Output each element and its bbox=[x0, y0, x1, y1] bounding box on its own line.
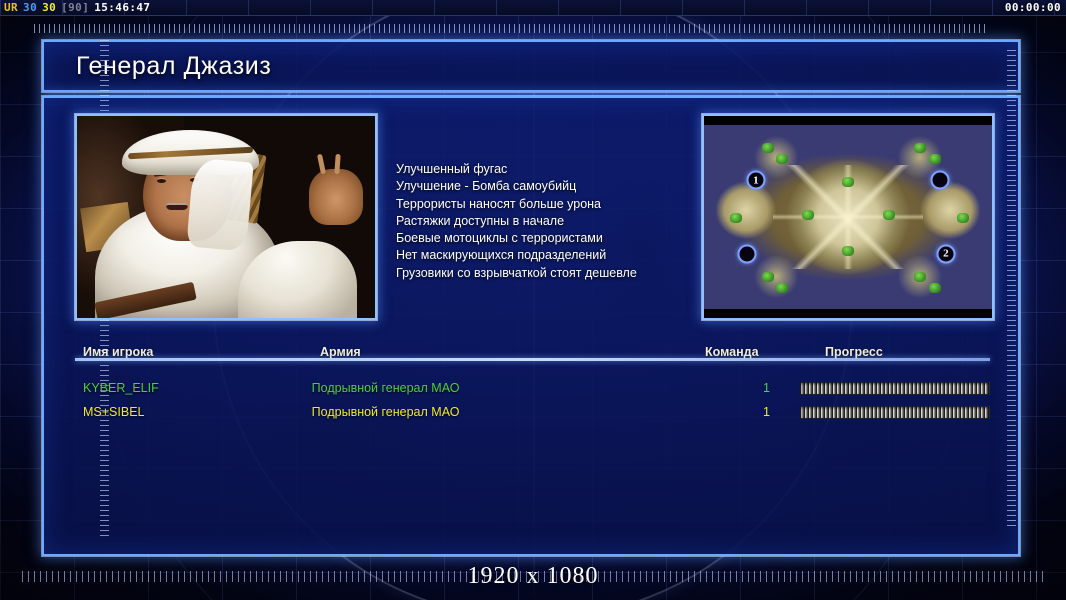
minimap-tree bbox=[776, 154, 788, 164]
table-row[interactable]: KYBER_ELIF Подрывной генерал МАО 1 bbox=[75, 376, 990, 400]
minimap-tree bbox=[929, 154, 941, 164]
general-bonus-list: Улучшенный фугас Улучшение - Бомба самоу… bbox=[396, 161, 696, 282]
progress-bar bbox=[800, 382, 990, 395]
minimap-tree bbox=[842, 246, 854, 256]
general-portrait bbox=[75, 114, 377, 320]
status-bar: UR 30 30 [90] 15:46:47 00:00:00 bbox=[0, 0, 1066, 16]
status-bracket: [90] bbox=[61, 1, 89, 14]
progress-bar bbox=[800, 406, 990, 419]
status-bar-left: UR 30 30 [90] 15:46:47 bbox=[0, 1, 150, 14]
column-header-progress: Прогресс bbox=[825, 345, 990, 359]
bonus-item: Боевые мотоциклы с террористами bbox=[396, 230, 696, 247]
ruler-top bbox=[34, 24, 988, 33]
ruler-right bbox=[1007, 50, 1016, 530]
bonus-item: Нет маскирующихся подразделений bbox=[396, 247, 696, 264]
minimap-letterbox-top bbox=[704, 116, 992, 125]
status-label: UR bbox=[4, 1, 18, 14]
minimap-tree bbox=[842, 177, 854, 187]
minimap-start-position[interactable] bbox=[931, 171, 950, 190]
portrait-eye-left bbox=[157, 179, 166, 183]
minimap-start-position[interactable]: 1 bbox=[746, 171, 765, 190]
bonus-item: Террористы наносят больше урона bbox=[396, 196, 696, 213]
map-preview[interactable]: 1 2 bbox=[702, 114, 994, 320]
player-name[interactable]: KYBER_ELIF bbox=[75, 381, 312, 395]
column-header-name: Имя игрока bbox=[75, 345, 320, 359]
minimap-tree bbox=[914, 272, 926, 282]
player-team[interactable]: 1 bbox=[683, 381, 800, 395]
bonus-item: Улучшение - Бомба самоубийц bbox=[396, 178, 696, 195]
minimap-tree bbox=[730, 213, 742, 223]
bonus-item: Улучшенный фугас bbox=[396, 161, 696, 178]
minimap-letterbox-bottom bbox=[704, 309, 992, 318]
status-clock: 15:46:47 bbox=[94, 1, 150, 14]
bonus-item: Растяжки доступны в начале bbox=[396, 213, 696, 230]
minimap-tree bbox=[762, 143, 774, 153]
player-army[interactable]: Подрывной генерал МАО bbox=[312, 381, 683, 395]
player-army[interactable]: Подрывной генерал МАО bbox=[312, 405, 683, 419]
column-header-team: Команда bbox=[705, 345, 825, 359]
minimap-start-position[interactable] bbox=[738, 244, 757, 263]
minimap-tree bbox=[883, 210, 895, 220]
player-list: Имя игрока Армия Команда Прогресс KYBER_… bbox=[75, 340, 990, 424]
minimap-tree bbox=[776, 283, 788, 293]
player-name[interactable]: MS+SIBEL bbox=[75, 405, 312, 419]
table-header-separator bbox=[75, 358, 990, 361]
bonus-item: Грузовики со взрывчаткой стоят дешевле bbox=[396, 265, 696, 282]
status-bar-grid bbox=[0, 0, 1066, 15]
column-header-army: Армия bbox=[320, 345, 705, 359]
resolution-caption: 1920 x 1080 bbox=[0, 563, 1066, 590]
portrait-mouth bbox=[166, 203, 188, 210]
portrait-raised-hand bbox=[309, 169, 363, 226]
player-progress-cell bbox=[800, 382, 990, 395]
table-row[interactable]: MS+SIBEL Подрывной генерал МАО 1 bbox=[75, 400, 990, 424]
minimap-tree bbox=[802, 210, 814, 220]
status-value-two: 30 bbox=[42, 1, 56, 14]
minimap-terrain: 1 2 bbox=[704, 125, 992, 309]
player-progress-cell bbox=[800, 406, 990, 419]
match-timer: 00:00:00 bbox=[1005, 1, 1061, 14]
minimap-tree bbox=[929, 283, 941, 293]
minimap-tree bbox=[762, 272, 774, 282]
status-value-one: 30 bbox=[23, 1, 37, 14]
minimap-tree bbox=[914, 143, 926, 153]
player-team[interactable]: 1 bbox=[683, 405, 800, 419]
minimap-start-position[interactable]: 2 bbox=[936, 244, 955, 263]
portrait-scarf-drape bbox=[186, 158, 253, 252]
